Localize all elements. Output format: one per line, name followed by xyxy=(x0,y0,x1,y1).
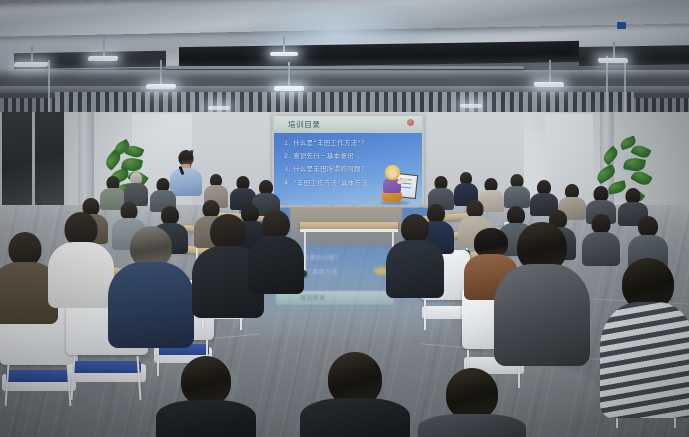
ceiling-conduit-right xyxy=(606,56,608,116)
slide-agenda-item-2: 2. 意识先行－基本意识 xyxy=(284,150,396,163)
light-rod-2 xyxy=(103,38,105,58)
ceiling-pipe-horizontal xyxy=(165,66,523,69)
attendee-navy-polo xyxy=(108,262,194,348)
ceiling-light-6 xyxy=(534,82,565,87)
attendee-back-r4 xyxy=(504,174,530,208)
glass-door[interactable] xyxy=(2,112,67,210)
ceiling xyxy=(0,0,689,122)
ceiling-duct-right xyxy=(579,45,689,66)
presentation-slide: 培训目录 1. 什么是“丰田工作方法”？ 2. 意识先行－基本意识 3. 什么是… xyxy=(274,116,422,207)
attendee-striped-shirt xyxy=(600,302,689,418)
ceiling-light-9 xyxy=(460,104,482,108)
attendee-front-l2 xyxy=(48,212,114,308)
attendee-front-r3 xyxy=(600,258,689,418)
cartoon-illustration xyxy=(374,163,418,205)
ceiling-conduit-left xyxy=(48,60,50,112)
slide-title: 培训目录 xyxy=(288,119,320,130)
slide-agenda-item-1: 1. 什么是“丰田工作方法”？ xyxy=(284,137,396,150)
attendee-foreground-left xyxy=(156,356,256,437)
ceiling-light-8 xyxy=(208,106,230,110)
reflected-slide-title: 培训目录 xyxy=(300,293,326,302)
attendee-front-l5 xyxy=(248,210,304,294)
attendee-front-r1 xyxy=(386,214,444,298)
attendee-gray-polo xyxy=(494,264,590,366)
ceiling-light-7 xyxy=(597,58,628,63)
ceiling-light-5 xyxy=(270,52,298,56)
ceiling-light-1 xyxy=(13,62,48,67)
table-center-front xyxy=(300,222,398,229)
attendee-front-r2 xyxy=(494,222,590,366)
ceiling-beam-primary xyxy=(0,70,689,79)
light-rod-6 xyxy=(549,60,551,84)
ceiling-device-blue xyxy=(617,22,626,29)
slide-body: 1. 什么是“丰田工作方法”？ 2. 意识先行－基本意识 3. 什么是丰田所谓的… xyxy=(274,133,422,207)
ceiling-light-3 xyxy=(146,84,177,89)
attendee-foreground-right xyxy=(418,368,526,437)
attendee-front-l3 xyxy=(108,226,194,348)
slide-header-bar: 培训目录 xyxy=(274,116,422,133)
ceiling-light-2 xyxy=(88,56,119,61)
light-rod-4 xyxy=(288,62,290,88)
light-rod-3 xyxy=(160,60,162,86)
attendee-foreground-center xyxy=(300,352,410,437)
ceiling-light-4 xyxy=(274,86,304,91)
training-room-scene: 培训目录 1. 什么是“丰田工作方法”？ 2. 意识先行－基本意识 3. 什么是… xyxy=(0,0,689,437)
company-logo-icon xyxy=(407,119,414,126)
attendee-back-l2 xyxy=(124,172,148,206)
ceiling-conduit-right-2 xyxy=(624,58,626,116)
